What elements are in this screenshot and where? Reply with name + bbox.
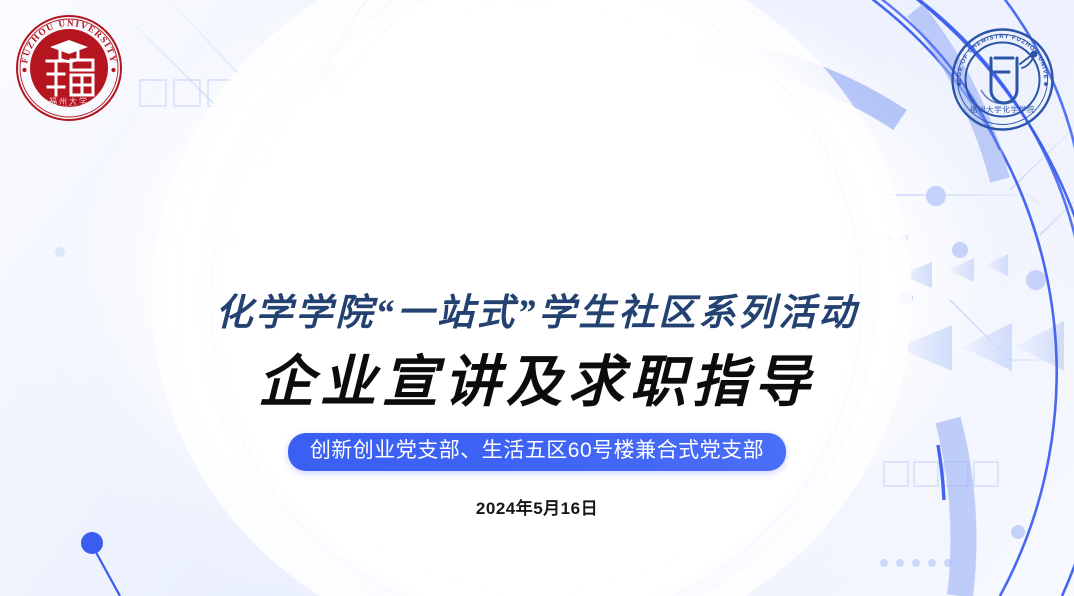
main-title: 企业宣讲及求职指导 — [0, 337, 1074, 418]
organizer-badge: 创新创业党支部、生活五区60号楼兼合式党支部 — [288, 433, 786, 471]
organizer-badge-wrap: 创新创业党支部、生活五区60号楼兼合式党支部 — [0, 433, 1074, 471]
activity-series-subtitle: 化学学院“一站式”学生社区系列活动 — [0, 282, 1074, 336]
event-date: 2024年5月16日 — [0, 494, 1074, 519]
title-text-block: 化学学院“一站式”学生社区系列活动 企业宣讲及求职指导 创新创业党支部、生活五区… — [0, 0, 1074, 596]
poster-slide: FUZHOU UNIVERSITY 福州大学 1958 — [0, 0, 1074, 596]
